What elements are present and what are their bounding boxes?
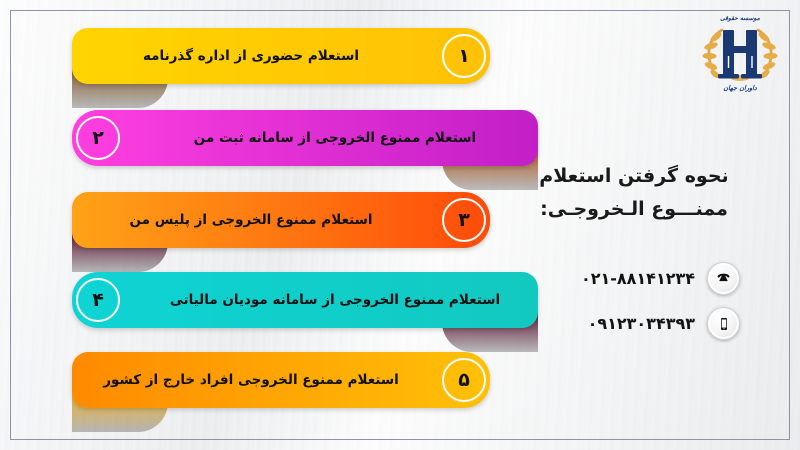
logo-bottom-text: داوران جهان [694, 84, 786, 92]
step-row: ۱استعلام حضوری از اداره گذرنامه [72, 28, 490, 84]
mobile-phone-icon [707, 307, 740, 340]
step-label: استعلام ممنوع الخروجی افراد خارج از کشور [72, 372, 430, 388]
step-banner-4[interactable]: ۴استعلام ممنوع الخروجی از سامانه مودیان … [72, 272, 538, 328]
step-banner-2[interactable]: ۲استعلام ممنوع الخروجی از سامانه ثبت من [72, 110, 538, 166]
mobile-number: ۰۹۱۲۳۰۳۴۳۹۳ [588, 314, 695, 333]
step-banner-5[interactable]: ۵استعلام ممنوع الخروجی افراد خارج از کشو… [72, 352, 490, 408]
step-number-badge: ۱ [442, 34, 486, 78]
step-label: استعلام ممنوع الخروجی از پلیس من [72, 212, 430, 228]
headline-line-1: نحوه گرفتن استعلام [504, 160, 764, 193]
step-row: ۴استعلام ممنوع الخروجی از سامانه مودیان … [72, 272, 538, 328]
step-label: استعلام حضوری از اداره گذرنامه [72, 48, 430, 64]
logo-top-text: موسسه حقوقی [694, 15, 786, 22]
step-row: ۳استعلام ممنوع الخروجی از پلیس من [72, 192, 490, 248]
infographic-stage: ۱استعلام حضوری از اداره گذرنامه۲استعلام … [0, 0, 800, 450]
step-label: استعلام ممنوع الخروجی از سامانه ثبت من [132, 130, 538, 146]
contact-landline[interactable]: ۰۲۱-۸۸۱۴۱۲۳۴ [510, 262, 740, 295]
company-logo: موسسه حقوقی [694, 4, 786, 100]
contact-mobile[interactable]: ۰۹۱۲۳۰۳۴۳۹۳ [510, 307, 740, 340]
step-row: ۵استعلام ممنوع الخروجی افراد خارج از کشو… [72, 352, 490, 408]
telephone-icon [707, 262, 740, 295]
headline: نحوه گرفتن استعلام ممنـــوع الـخروجـی: [504, 160, 764, 227]
step-banner-3[interactable]: ۳استعلام ممنوع الخروجی از پلیس من [72, 192, 490, 248]
step-banner-1[interactable]: ۱استعلام حضوری از اداره گذرنامه [72, 28, 490, 84]
contact-list: ۰۲۱-۸۸۱۴۱۲۳۴ ۰۹۱۲۳۰۳۴۳۹۳ [510, 262, 740, 352]
headline-line-2: ممنـــوع الـخروجـی: [504, 193, 764, 226]
step-number-badge: ۴ [76, 278, 120, 322]
step-label: استعلام ممنوع الخروجی از سامانه مودیان م… [132, 292, 538, 308]
step-number-badge: ۵ [442, 358, 486, 402]
step-number-badge: ۳ [442, 198, 486, 242]
step-number-badge: ۲ [76, 116, 120, 160]
landline-number: ۰۲۱-۸۸۱۴۱۲۳۴ [581, 269, 695, 288]
step-row: ۲استعلام ممنوع الخروجی از سامانه ثبت من [72, 110, 538, 166]
